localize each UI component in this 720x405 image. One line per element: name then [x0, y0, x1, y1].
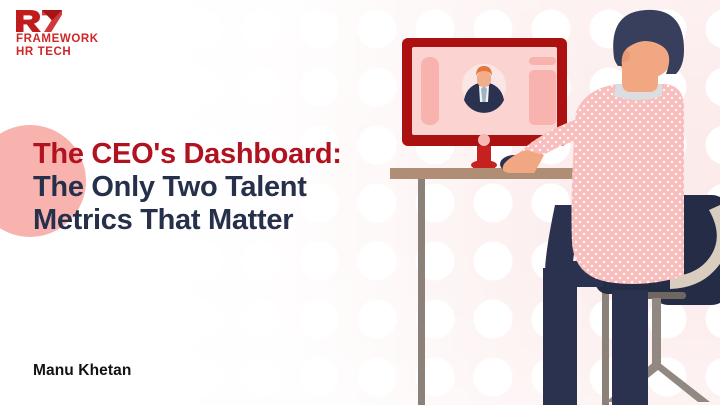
person-shin — [543, 268, 577, 405]
page-title-line-1: The CEO's Dashboard: — [33, 138, 433, 171]
page-title-line-3: Metrics That Matter — [33, 204, 433, 237]
author-name: Manu Khetan — [33, 362, 131, 380]
person-shirt-dots — [572, 84, 685, 284]
desk-leg-left — [418, 179, 425, 405]
screen-panel-right — [529, 70, 556, 125]
brand-logo[interactable]: FRAMEWORK HR TECH — [16, 10, 136, 59]
page-title: The CEO's Dashboard: The Only Two Talent… — [33, 138, 433, 237]
illustration-man-at-desk — [390, 0, 720, 405]
screen-panel-top-right — [529, 57, 556, 65]
screen-panel-left — [421, 57, 439, 125]
person-shin-2 — [612, 290, 648, 405]
logo-wordmark-line2: HR TECH — [16, 46, 136, 59]
monitor-power-dot — [478, 134, 490, 146]
chair-column — [652, 298, 661, 368]
slide-canvas: FRAMEWORK HR TECH The CEO's Dashboard: T… — [0, 0, 720, 405]
avatar-face — [477, 71, 491, 87]
logo-wordmark-line1: FRAMEWORK — [16, 33, 136, 46]
page-title-line-2: The Only Two Talent — [33, 171, 433, 204]
logo-r7-icon — [16, 10, 68, 32]
screen-avatar — [462, 64, 506, 113]
